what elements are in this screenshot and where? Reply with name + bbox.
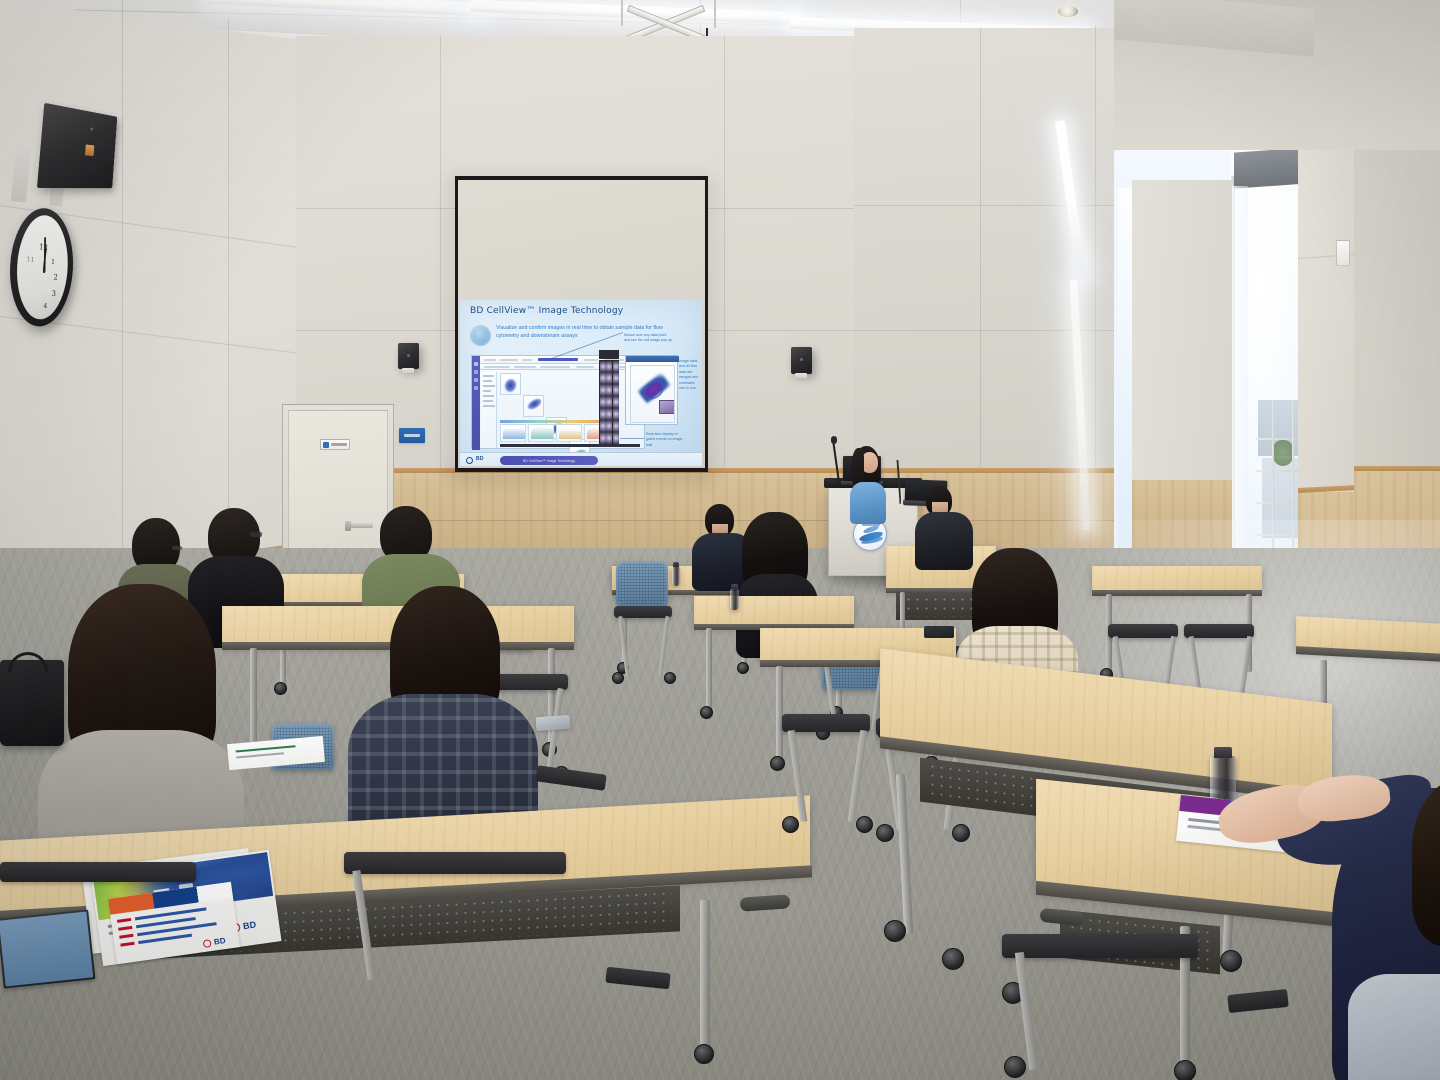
callout-leader-line (620, 438, 644, 439)
chair-back[interactable] (616, 562, 668, 606)
zoom-scatter-plot (630, 365, 675, 423)
chair-caster (952, 824, 970, 842)
wall-panel-seam (122, 0, 123, 575)
door-sign-text (331, 443, 347, 446)
clock-numeral: 4 (43, 302, 47, 310)
cell-image (613, 361, 619, 372)
recessed-downlight (1058, 6, 1078, 17)
clock-numeral: 1 (51, 258, 55, 266)
cell-image (613, 408, 619, 419)
table-caster (274, 682, 287, 695)
wainscot-trim (1354, 466, 1440, 471)
front-right-table-apron (896, 592, 982, 620)
chair-seat (782, 714, 870, 732)
chair-caster (1004, 1056, 1026, 1078)
table-leg (776, 666, 783, 762)
app-ribbon (480, 364, 646, 370)
cell-image (613, 396, 619, 407)
right-back-table-top (1092, 566, 1262, 592)
wall-speaker-front-right (791, 347, 812, 374)
wall-speaker-front-left (398, 343, 419, 369)
chair-seat (614, 606, 672, 618)
slide-title: BD CellView™ Image Technology (470, 306, 623, 316)
chair-seat (1184, 624, 1254, 638)
clock-numeral: 2 (53, 273, 58, 282)
table-leg (706, 628, 712, 710)
chair-caster (782, 816, 799, 833)
table-leg (700, 900, 710, 1050)
classroom-photo: 12 1 2 3 4 11 (0, 0, 1440, 1080)
cell-image (600, 372, 606, 383)
table-caster (884, 920, 906, 942)
tablet-device[interactable] (0, 909, 95, 988)
cell-image (606, 408, 612, 419)
chair-caster (856, 816, 873, 833)
wall-panel-seam (228, 20, 229, 590)
water-bottle (672, 566, 680, 586)
clock-numeral: 11 (26, 255, 35, 264)
door-room-sign (320, 439, 350, 450)
cell-image (606, 361, 612, 372)
flow-scatter-plot (500, 373, 521, 395)
bd-mark-icon (466, 457, 473, 464)
cell-image (600, 432, 606, 443)
slide-footer: BD BD CellView™ Image Technology (460, 452, 702, 466)
brochure-bd-logo: BD (242, 919, 256, 931)
cell-image (606, 372, 612, 383)
bd-logo-text: BD (476, 456, 484, 462)
table-caster (1220, 950, 1242, 972)
app-nav-rail (481, 372, 497, 448)
table-leg (250, 648, 257, 748)
wall-directional-sign (399, 428, 425, 443)
zoom-panel-title-bar (626, 356, 679, 362)
wall-speaker-left (37, 103, 117, 188)
chair-seat (0, 862, 196, 882)
histogram-plot (528, 424, 554, 442)
table-caster (770, 756, 785, 771)
table-caster (737, 662, 749, 674)
door-sign-icon (323, 442, 329, 448)
projected-slide: BD CellView™ Image Technology Visualize … (460, 300, 702, 466)
cell-image (600, 361, 606, 372)
chair-caster (664, 672, 676, 684)
cell-image (613, 384, 619, 395)
cell-image-wall (599, 360, 619, 444)
mid-row-table-top (694, 596, 854, 626)
zoom-detail-panel (625, 355, 678, 425)
clock-center-pin (43, 270, 46, 273)
slide-callout-top: Mouse over any data point and see the ce… (624, 333, 672, 344)
cell-image (613, 420, 619, 431)
eyeglasses-icon (250, 532, 262, 537)
podium-microphone-head (831, 436, 837, 444)
cell-image (606, 396, 612, 407)
attendee-torso (915, 512, 973, 570)
clock-numeral: 3 (51, 289, 56, 298)
cell-image (600, 420, 606, 431)
slide-footer-pill-label: BD CellView™ Image Technology (523, 459, 575, 463)
light-switch-plate[interactable] (1336, 240, 1350, 266)
speaker-mount-bracket (402, 368, 414, 373)
wall-panel-seam (724, 36, 725, 536)
cell-wall-header (599, 350, 619, 359)
presenter-torso (850, 482, 886, 524)
tote-bag (0, 660, 64, 746)
chair-seat (1108, 624, 1178, 638)
flow-scatter-plot (523, 395, 544, 417)
slide-bullet-icon (470, 325, 491, 346)
slide-callout-right: Image data and all flow data are merged … (679, 359, 701, 391)
gate-color-ribbon (500, 420, 613, 423)
speaker-mount-bracket (795, 373, 807, 378)
clock-minute-hand (44, 237, 46, 271)
histogram-plot (500, 424, 526, 442)
slide-callout-bottom: Real-time display of gated events on ima… (646, 432, 686, 448)
smartphone[interactable] (536, 715, 571, 731)
leaflet-bd-logo: BD (213, 936, 226, 947)
wall-sign-text (404, 434, 420, 437)
chair-seat (344, 852, 566, 874)
projector-mount-rod (621, 0, 623, 26)
table-caster (942, 948, 964, 970)
cell-image (600, 408, 606, 419)
table-caster (1174, 1060, 1196, 1080)
eyeglasses-icon (172, 546, 182, 550)
chair-caster (876, 824, 894, 842)
app-sidebar (472, 356, 480, 450)
chair-caster (612, 672, 624, 684)
table-edge (1092, 590, 1262, 596)
window-blind-valance (1234, 147, 1308, 188)
outside-tree (1272, 440, 1294, 466)
cell-image (600, 396, 606, 407)
cell-image (606, 384, 612, 395)
cell-image (613, 432, 619, 443)
cell-image (600, 384, 606, 395)
app-status-bar (500, 444, 640, 447)
attendee-lap (1348, 974, 1440, 1080)
cell-image (606, 420, 612, 431)
notebook[interactable] (924, 626, 954, 638)
slide-footer-pill: BD CellView™ Image Technology (500, 456, 598, 465)
water-bottle (730, 588, 739, 610)
door-lock-plate (345, 521, 351, 531)
window-side-pane (1118, 188, 1132, 588)
table-caster (700, 706, 713, 719)
projector-mount-rod (714, 0, 716, 28)
chair-seat (1002, 934, 1198, 958)
cell-image (613, 372, 619, 383)
histogram-plot (556, 424, 582, 442)
wall-panel-seam (440, 36, 441, 536)
cell-image (606, 432, 612, 443)
app-toolbar (480, 356, 646, 364)
table-caster (694, 1044, 714, 1064)
